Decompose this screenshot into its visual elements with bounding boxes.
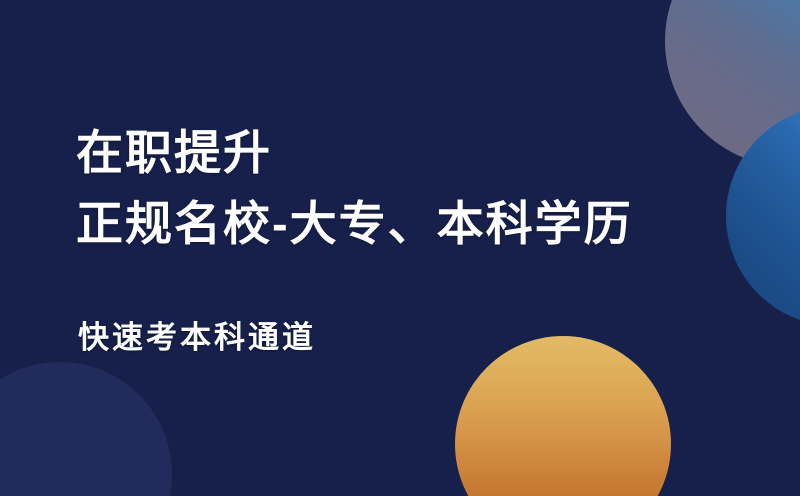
headline-line-2: 正规名校-大专、本科学历 xyxy=(76,196,633,252)
promo-banner: 在职提升 正规名校-大专、本科学历 快速考本科通道 xyxy=(0,0,800,496)
text-layer: 在职提升 正规名校-大专、本科学历 快速考本科通道 xyxy=(0,0,800,496)
headline-line-1: 在职提升 xyxy=(76,125,272,181)
sub-headline: 快速考本科通道 xyxy=(78,317,316,359)
